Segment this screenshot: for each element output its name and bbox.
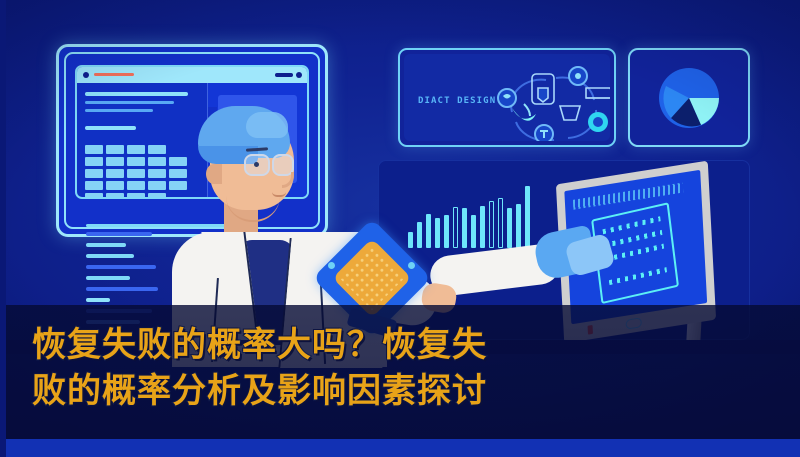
- left-edge-strip: [0, 0, 6, 457]
- cover-image: DIACT DESIGN: [0, 0, 800, 457]
- caption-line-2: 败的概率分析及影响因素探讨: [32, 371, 487, 411]
- caption-title: 恢复失败的概率大吗？恢复失败的概率分析及影响因素探讨: [32, 322, 672, 414]
- bottom-accent-strip: [0, 439, 800, 457]
- caption-line-1: 恢复失败的概率大吗？恢复失: [32, 325, 487, 365]
